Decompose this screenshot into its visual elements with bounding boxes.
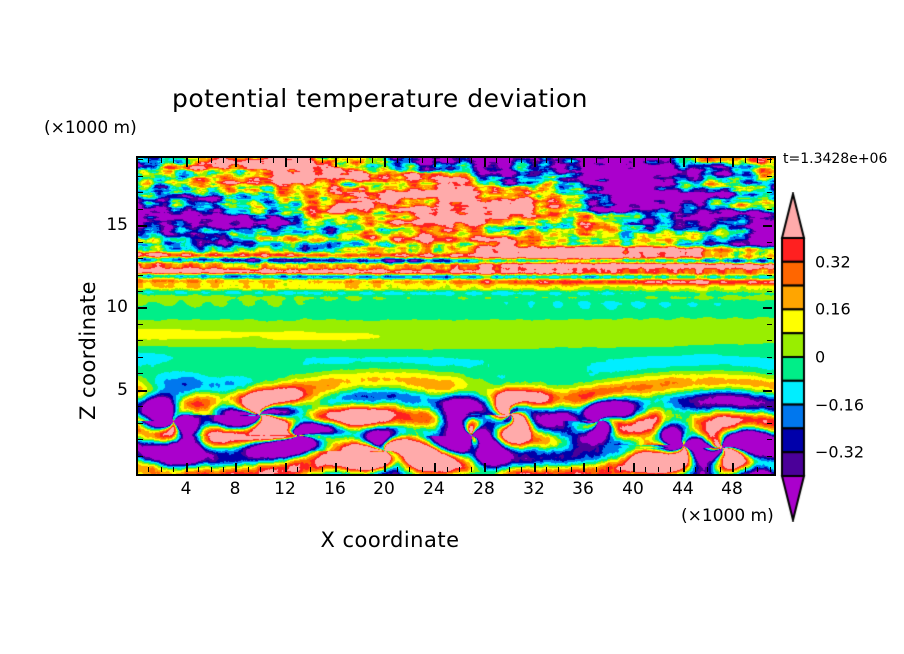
x-tick-mark <box>235 463 237 472</box>
y-tick-mark <box>763 225 772 227</box>
x-minor-tick-mark <box>720 467 721 472</box>
y-minor-tick-mark <box>767 159 772 160</box>
y-minor-tick-mark <box>138 423 143 424</box>
x-minor-tick-mark <box>658 158 659 163</box>
colorbar-tick-label: 0.32 <box>815 252 851 271</box>
y-minor-tick-mark <box>138 209 143 210</box>
colorbar-tick-label: −0.32 <box>815 443 864 462</box>
x-tick-label: 32 <box>523 479 545 499</box>
x-minor-tick-mark <box>471 467 472 472</box>
x-minor-tick-mark <box>695 158 696 163</box>
x-minor-tick-mark <box>447 158 448 163</box>
y-tick-mark <box>138 225 147 227</box>
y-minor-tick-mark <box>767 291 772 292</box>
x-minor-tick-mark <box>459 158 460 163</box>
x-tick-mark <box>534 158 536 167</box>
x-minor-tick-mark <box>509 467 510 472</box>
x-minor-tick-mark <box>347 158 348 163</box>
x-minor-tick-mark <box>397 467 398 472</box>
y-minor-tick-mark <box>767 242 772 243</box>
x-minor-tick-mark <box>223 158 224 163</box>
x-minor-tick-mark <box>608 158 609 163</box>
y-minor-tick-mark <box>767 423 772 424</box>
x-tick-mark <box>633 158 635 167</box>
x-minor-tick-mark <box>148 158 149 163</box>
z-axis-unit-label: (×1000 m) <box>44 118 137 138</box>
x-minor-tick-mark <box>148 467 149 472</box>
y-minor-tick-mark <box>767 406 772 407</box>
y-minor-tick-mark <box>138 340 143 341</box>
figure-root: potential temperature deviation (×1000 m… <box>0 0 904 654</box>
x-tick-mark <box>534 463 536 472</box>
y-minor-tick-mark <box>138 406 143 407</box>
x-tick-mark <box>235 158 237 167</box>
y-minor-tick-mark <box>767 324 772 325</box>
x-tick-label: 8 <box>230 479 241 499</box>
x-minor-tick-mark <box>260 158 261 163</box>
page-title: potential temperature deviation <box>0 84 760 113</box>
x-minor-tick-mark <box>571 467 572 472</box>
y-minor-tick-mark <box>138 176 143 177</box>
colorbar <box>778 192 818 522</box>
y-minor-tick-mark <box>767 258 772 259</box>
x-tick-mark <box>683 158 685 167</box>
x-minor-tick-mark <box>273 158 274 163</box>
colorbar-tick-label: 0.16 <box>815 300 851 319</box>
y-tick-mark <box>138 307 147 309</box>
x-tick-mark <box>285 158 287 167</box>
x-minor-tick-mark <box>645 467 646 472</box>
y-minor-tick-mark <box>767 373 772 374</box>
y-minor-tick-mark <box>767 357 772 358</box>
y-minor-tick-mark <box>138 258 143 259</box>
x-minor-tick-mark <box>198 467 199 472</box>
x-minor-tick-mark <box>645 158 646 163</box>
x-minor-tick-mark <box>248 158 249 163</box>
x-tick-mark <box>732 463 734 472</box>
y-axis-title: Z coordinate <box>76 281 100 420</box>
x-minor-tick-mark <box>496 467 497 472</box>
x-tick-mark <box>434 158 436 167</box>
x-minor-tick-mark <box>757 158 758 163</box>
x-minor-tick-mark <box>360 467 361 472</box>
x-tick-label: 40 <box>622 479 644 499</box>
x-minor-tick-mark <box>596 158 597 163</box>
x-tick-mark <box>583 158 585 167</box>
x-minor-tick-mark <box>322 158 323 163</box>
x-tick-mark <box>633 463 635 472</box>
x-tick-mark <box>583 463 585 472</box>
x-tick-label: 48 <box>721 479 743 499</box>
x-minor-tick-mark <box>521 467 522 472</box>
x-tick-label: 4 <box>181 479 192 499</box>
x-minor-tick-mark <box>459 467 460 472</box>
x-tick-label: 24 <box>423 479 445 499</box>
timestamp-annotation: t=1.3428e+06 <box>783 151 887 167</box>
x-minor-tick-mark <box>670 158 671 163</box>
y-tick-mark <box>138 390 147 392</box>
x-minor-tick-mark <box>571 158 572 163</box>
x-minor-tick-mark <box>447 467 448 472</box>
x-minor-tick-mark <box>260 467 261 472</box>
x-minor-tick-mark <box>310 158 311 163</box>
x-minor-tick-mark <box>496 158 497 163</box>
x-tick-mark <box>484 158 486 167</box>
y-minor-tick-mark <box>138 159 143 160</box>
x-minor-tick-mark <box>707 158 708 163</box>
x-minor-tick-mark <box>297 158 298 163</box>
x-minor-tick-mark <box>211 158 212 163</box>
x-minor-tick-mark <box>757 467 758 472</box>
x-minor-tick-mark <box>608 467 609 472</box>
y-minor-tick-mark <box>138 456 143 457</box>
x-minor-tick-mark <box>173 158 174 163</box>
x-minor-tick-mark <box>248 467 249 472</box>
y-minor-tick-mark <box>767 176 772 177</box>
colorbar-tick-label: 0 <box>815 348 825 367</box>
x-minor-tick-mark <box>198 158 199 163</box>
x-minor-tick-mark <box>322 467 323 472</box>
x-minor-tick-mark <box>707 467 708 472</box>
x-tick-mark <box>186 158 188 167</box>
x-tick-mark <box>285 463 287 472</box>
y-minor-tick-mark <box>138 357 143 358</box>
y-minor-tick-mark <box>138 324 143 325</box>
colorbar-canvas <box>778 192 818 522</box>
x-tick-mark <box>384 463 386 472</box>
x-minor-tick-mark <box>173 467 174 472</box>
y-tick-mark <box>763 307 772 309</box>
x-minor-tick-mark <box>509 158 510 163</box>
x-minor-tick-mark <box>745 467 746 472</box>
x-minor-tick-mark <box>546 158 547 163</box>
y-minor-tick-mark <box>138 291 143 292</box>
y-minor-tick-mark <box>138 192 143 193</box>
y-minor-tick-mark <box>767 456 772 457</box>
x-tick-label: 28 <box>473 479 495 499</box>
x-minor-tick-mark <box>422 158 423 163</box>
x-minor-tick-mark <box>372 158 373 163</box>
y-minor-tick-mark <box>767 439 772 440</box>
x-minor-tick-mark <box>720 158 721 163</box>
contour-plot-area <box>136 156 776 476</box>
x-axis-unit-label: (×1000 m) <box>681 506 774 526</box>
y-minor-tick-mark <box>767 192 772 193</box>
x-minor-tick-mark <box>273 467 274 472</box>
x-minor-tick-mark <box>161 467 162 472</box>
x-tick-label: 44 <box>672 479 694 499</box>
x-minor-tick-mark <box>223 467 224 472</box>
y-tick-mark <box>763 390 772 392</box>
x-tick-mark <box>484 463 486 472</box>
colorbar-tick-label: −0.16 <box>815 395 864 414</box>
x-tick-mark <box>434 463 436 472</box>
x-minor-tick-mark <box>596 467 597 472</box>
x-minor-tick-mark <box>670 467 671 472</box>
x-minor-tick-mark <box>745 158 746 163</box>
contour-field-canvas <box>138 158 774 474</box>
x-minor-tick-mark <box>471 158 472 163</box>
x-axis-title: X coordinate <box>0 528 780 552</box>
x-minor-tick-mark <box>770 467 771 472</box>
x-tick-mark <box>683 463 685 472</box>
x-minor-tick-mark <box>558 467 559 472</box>
x-minor-tick-mark <box>211 467 212 472</box>
x-minor-tick-mark <box>422 467 423 472</box>
x-tick-mark <box>335 463 337 472</box>
x-minor-tick-mark <box>310 467 311 472</box>
x-minor-tick-mark <box>297 467 298 472</box>
x-minor-tick-mark <box>546 467 547 472</box>
x-minor-tick-mark <box>372 467 373 472</box>
x-minor-tick-mark <box>620 467 621 472</box>
y-minor-tick-mark <box>138 373 143 374</box>
x-minor-tick-mark <box>620 158 621 163</box>
x-minor-tick-mark <box>397 158 398 163</box>
x-tick-label: 16 <box>324 479 346 499</box>
y-minor-tick-mark <box>138 242 143 243</box>
y-minor-tick-mark <box>138 275 143 276</box>
x-tick-label: 20 <box>373 479 395 499</box>
y-minor-tick-mark <box>767 275 772 276</box>
x-minor-tick-mark <box>409 158 410 163</box>
y-tick-label: 15 <box>88 215 128 235</box>
x-minor-tick-mark <box>360 158 361 163</box>
x-minor-tick-mark <box>695 467 696 472</box>
x-tick-mark <box>384 158 386 167</box>
x-tick-mark <box>335 158 337 167</box>
x-minor-tick-mark <box>347 467 348 472</box>
x-tick-label: 12 <box>274 479 296 499</box>
x-minor-tick-mark <box>558 158 559 163</box>
x-tick-mark <box>186 463 188 472</box>
y-minor-tick-mark <box>138 439 143 440</box>
x-minor-tick-mark <box>161 158 162 163</box>
y-minor-tick-mark <box>767 209 772 210</box>
x-minor-tick-mark <box>658 467 659 472</box>
x-tick-label: 36 <box>572 479 594 499</box>
x-minor-tick-mark <box>521 158 522 163</box>
x-minor-tick-mark <box>409 467 410 472</box>
y-minor-tick-mark <box>767 340 772 341</box>
x-tick-mark <box>732 158 734 167</box>
